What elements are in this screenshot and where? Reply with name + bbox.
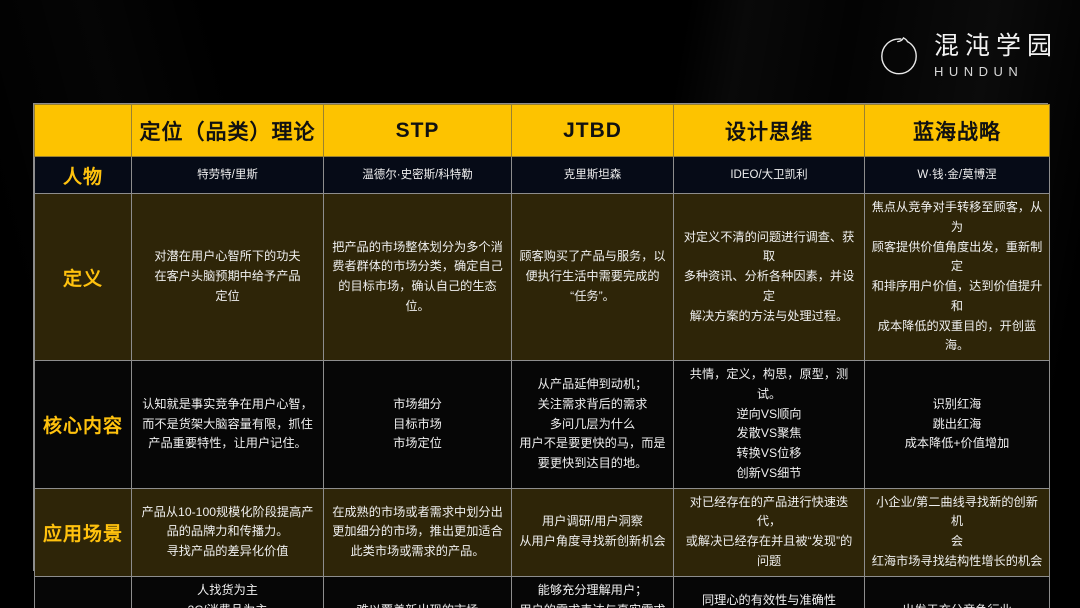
cell-line: 在成熟的市场或者需求中划分出 — [330, 503, 505, 523]
cell-text: 焦点从竞争对手转移至顾客，从为顾客提供价值角度出发，重新制定和排序用户价值，达到… — [871, 198, 1043, 356]
cell-line: 成本降低的双重目的，开创蓝海。 — [871, 317, 1043, 357]
table-cell: 难以覆盖新出现的市场细分的维度不好找难以超出预期 — [324, 576, 512, 608]
row-label: 应用场景 — [35, 488, 132, 576]
slide-canvas: 混沌学园 HUNDUN 定位（品类）理论 STP JTBD 设计思维 蓝海战略 … — [0, 0, 1080, 608]
table-cell: 对潜在用户心智所下的功夫在客户头脑预期中给予产品定位 — [132, 194, 324, 361]
cell-line: 特劳特/里斯 — [138, 166, 317, 185]
table-cell: 顾客购买了产品与服务，以便执行生活中需要完成的“任务”。 — [512, 194, 674, 361]
cell-text: 能够充分理解用户；用户的需求表达与真实需求的GAP；假设用户的行为都有其他的目的… — [518, 581, 667, 608]
cell-line: 问题 — [680, 552, 858, 572]
cell-text: 在成熟的市场或者需求中划分出更加细分的市场，推出更加适合此类市场或需求的产品。 — [330, 503, 505, 562]
table-cell: 识别红海跳出红海成本降低+价值增加 — [865, 361, 1050, 489]
cell-line: 出发于充分竞争行业 — [871, 601, 1043, 608]
table-cell: 认知就是事实竞争在用户心智，而不是货架大脑容量有限，抓住产品重要特性，让用户记住… — [132, 361, 324, 489]
cell-line: 用户调研/用户洞察 — [518, 512, 667, 532]
table-body: 人物特劳特/里斯温德尔·史密斯/科特勒克里斯坦森IDEO/大卫凯利W·钱·金/莫… — [35, 157, 1050, 608]
cell-line: 的目标市场，确认自己的生态位。 — [330, 277, 505, 317]
cell-text: 人找货为主2C/消费品为主品牌价值大于用户价值品牌传播及营销领域为主是一种沟通手… — [138, 581, 317, 608]
cell-line: 费者群体的市场分类，确定自己 — [330, 257, 505, 277]
cell-line: 同理心的有效性与准确性 — [680, 591, 858, 608]
column-header-design-thinking: 设计思维 — [674, 105, 865, 157]
cell-text: 温德尔·史密斯/科特勒 — [330, 166, 505, 185]
cell-line: 关注需求背后的需求 — [518, 395, 667, 415]
cell-line: 认知就是事实竞争在用户心智， — [138, 395, 317, 415]
table-cell: W·钱·金/莫博涅 — [865, 157, 1050, 194]
cell-line: 红海市场寻找结构性增长的机会 — [871, 552, 1043, 572]
cell-text: IDEO/大卫凯利 — [680, 166, 858, 185]
cell-text: 对潜在用户心智所下的功夫在客户头脑预期中给予产品定位 — [138, 247, 317, 306]
cell-text: 用户调研/用户洞察从用户角度寻找新创新机会 — [518, 512, 667, 552]
row-label: 核心内容 — [35, 361, 132, 489]
cell-line: 目标市场 — [330, 415, 505, 435]
table-cell: 特劳特/里斯 — [132, 157, 324, 194]
cell-text: 识别红海跳出红海成本降低+价值增加 — [871, 395, 1043, 454]
table-cell: 同理心的有效性与准确性原型可测试可获得充足的市场反馈内部语言统一/问题定义统一 — [674, 576, 865, 608]
cell-line: 产品重要特性，让用户记住。 — [138, 434, 317, 454]
row-label: 定义 — [35, 194, 132, 361]
cell-text: 特劳特/里斯 — [138, 166, 317, 185]
table-cell: 焦点从竞争对手转移至顾客，从为顾客提供价值角度出发，重新制定和排序用户价值，达到… — [865, 194, 1050, 361]
table-cell: 对定义不清的问题进行调查、获取多种资讯、分析各种因素，并设定解决方案的方法与处理… — [674, 194, 865, 361]
cell-line: 定位 — [138, 287, 317, 307]
table-row: 人物特劳特/里斯温德尔·史密斯/科特勒克里斯坦森IDEO/大卫凯利W·钱·金/莫… — [35, 157, 1050, 194]
cell-line: 寻找产品的差异化价值 — [138, 542, 317, 562]
cell-line: 更加细分的市场，推出更加适合 — [330, 522, 505, 542]
cell-line: 用户不是要更快的马，而是 — [518, 434, 667, 454]
table-row: 核心内容认知就是事实竞争在用户心智，而不是货架大脑容量有限，抓住产品重要特性，让… — [35, 361, 1050, 489]
cell-line: 难以覆盖新出现的市场 — [330, 601, 505, 608]
cell-line: 而不是货架大脑容量有限，抓住 — [138, 415, 317, 435]
cell-line: 人找货为主 — [138, 581, 317, 601]
brand-lockup: 混沌学园 HUNDUN — [876, 31, 1058, 79]
column-header-positioning: 定位（品类）理论 — [132, 105, 324, 157]
table-cell: 市场细分目标市场市场定位 — [324, 361, 512, 489]
cell-text: 从产品延伸到动机；关注需求背后的需求多问几层为什么用户不是要更快的马，而是要更快… — [518, 375, 667, 474]
column-header-stp: STP — [324, 105, 512, 157]
table-cell: 克里斯坦森 — [512, 157, 674, 194]
cell-text: 难以覆盖新出现的市场细分的维度不好找难以超出预期 — [330, 601, 505, 608]
cell-line: 解决方案的方法与处理过程。 — [680, 307, 858, 327]
cell-line: 把产品的市场整体划分为多个消 — [330, 238, 505, 258]
table-row: 假设边界人找货为主2C/消费品为主品牌价值大于用户价值品牌传播及营销领域为主是一… — [35, 576, 1050, 608]
hundun-circle-icon — [876, 31, 922, 79]
table-cell: 产品从10-100规模化阶段提高产品的品牌力和传播力。寻找产品的差异化价值 — [132, 488, 324, 576]
row-label: 假设边界 — [35, 576, 132, 608]
cell-line: 发散VS聚焦 — [680, 424, 858, 444]
cell-text: 把产品的市场整体划分为多个消费者群体的市场分类，确定自己的目标市场，确认自己的生… — [330, 238, 505, 317]
table-cell: 共情，定义，构思，原型，测试。逆向VS顺向发散VS聚焦转换VS位移创新VS细节 — [674, 361, 865, 489]
cell-line: 从产品延伸到动机； — [518, 375, 667, 395]
table-cell: IDEO/大卫凯利 — [674, 157, 865, 194]
cell-line: 产品从10-100规模化阶段提高产 — [138, 503, 317, 523]
cell-line: 品的品牌力和传播力。 — [138, 522, 317, 542]
cell-line: 顾客提供价值角度出发，重新制定 — [871, 238, 1043, 278]
cell-line: “任务”。 — [518, 287, 667, 307]
cell-line: 转换VS位移 — [680, 444, 858, 464]
cell-line: 跳出红海 — [871, 415, 1043, 435]
cell-text: 市场细分目标市场市场定位 — [330, 395, 505, 454]
table-cell: 温德尔·史密斯/科特勒 — [324, 157, 512, 194]
brand-name-en: HUNDUN — [934, 65, 1058, 78]
cell-line: 顾客购买了产品与服务，以 — [518, 247, 667, 267]
cell-line: 小企业/第二曲线寻找新的创新机 — [871, 493, 1043, 533]
table-cell: 对已经存在的产品进行快速迭代，或解决已经存在并且被“发现”的问题 — [674, 488, 865, 576]
column-header-blue-ocean: 蓝海战略 — [865, 105, 1050, 157]
cell-line: 要更快到达目的地。 — [518, 454, 667, 474]
cell-line: 此类市场或需求的产品。 — [330, 542, 505, 562]
cell-line: 创新VS细节 — [680, 464, 858, 484]
comparison-table: 定位（品类）理论 STP JTBD 设计思维 蓝海战略 人物特劳特/里斯温德尔·… — [34, 104, 1050, 608]
cell-line: 2C/消费品为主 — [138, 601, 317, 608]
cell-line: 在客户头脑预期中给予产品 — [138, 267, 317, 287]
table-header: 定位（品类）理论 STP JTBD 设计思维 蓝海战略 — [35, 105, 1050, 157]
cell-line: 对已经存在的产品进行快速迭代， — [680, 493, 858, 533]
cell-line: 温德尔·史密斯/科特勒 — [330, 166, 505, 185]
cell-line: 焦点从竞争对手转移至顾客，从为 — [871, 198, 1043, 238]
cell-text: 对已经存在的产品进行快速迭代，或解决已经存在并且被“发现”的问题 — [680, 493, 858, 572]
brand-text: 混沌学园 HUNDUN — [934, 33, 1058, 78]
table-row: 定义对潜在用户心智所下的功夫在客户头脑预期中给予产品定位把产品的市场整体划分为多… — [35, 194, 1050, 361]
cell-text: 认知就是事实竞争在用户心智，而不是货架大脑容量有限，抓住产品重要特性，让用户记住… — [138, 395, 317, 454]
cell-text: 顾客购买了产品与服务，以便执行生活中需要完成的“任务”。 — [518, 247, 667, 306]
brand-name-cn: 混沌学园 — [934, 33, 1058, 58]
cell-line: 便执行生活中需要完成的 — [518, 267, 667, 287]
table-cell: 小企业/第二曲线寻找新的创新机会红海市场寻找结构性增长的机会 — [865, 488, 1050, 576]
framework-comparison-table: 定位（品类）理论 STP JTBD 设计思维 蓝海战略 人物特劳特/里斯温德尔·… — [33, 103, 1048, 571]
cell-text: 克里斯坦森 — [518, 166, 667, 185]
table-corner-cell — [35, 105, 132, 157]
table-cell: 出发于充分竞争行业消费者需求差异的存在价值要素可以重新组合 — [865, 576, 1050, 608]
row-label: 人物 — [35, 157, 132, 194]
cell-text: 对定义不清的问题进行调查、获取多种资讯、分析各种因素，并设定解决方案的方法与处理… — [680, 228, 858, 327]
column-header-jtbd: JTBD — [512, 105, 674, 157]
table-cell: 能够充分理解用户；用户的需求表达与真实需求的GAP；假设用户的行为都有其他的目的… — [512, 576, 674, 608]
cell-line: 市场细分 — [330, 395, 505, 415]
table-cell: 从产品延伸到动机；关注需求背后的需求多问几层为什么用户不是要更快的马，而是要更快… — [512, 361, 674, 489]
cell-text: W·钱·金/莫博涅 — [871, 166, 1043, 185]
cell-line: 对潜在用户心智所下的功夫 — [138, 247, 317, 267]
cell-line: 用户的需求表达与真实需求 — [518, 601, 667, 608]
cell-line: 识别红海 — [871, 395, 1043, 415]
cell-line: 能够充分理解用户； — [518, 581, 667, 601]
table-cell: 在成熟的市场或者需求中划分出更加细分的市场，推出更加适合此类市场或需求的产品。 — [324, 488, 512, 576]
table-cell: 把产品的市场整体划分为多个消费者群体的市场分类，确定自己的目标市场，确认自己的生… — [324, 194, 512, 361]
table-cell: 用户调研/用户洞察从用户角度寻找新创新机会 — [512, 488, 674, 576]
table-row: 应用场景产品从10-100规模化阶段提高产品的品牌力和传播力。寻找产品的差异化价… — [35, 488, 1050, 576]
cell-line: 克里斯坦森 — [518, 166, 667, 185]
cell-line: 共情，定义，构思，原型，测试。 — [680, 365, 858, 405]
cell-line: 或解决已经存在并且被“发现”的 — [680, 532, 858, 552]
header-row: 定位（品类）理论 STP JTBD 设计思维 蓝海战略 — [35, 105, 1050, 157]
cell-line: 多种资讯、分析各种因素，并设定 — [680, 267, 858, 307]
cell-text: 同理心的有效性与准确性原型可测试可获得充足的市场反馈内部语言统一/问题定义统一 — [680, 591, 858, 608]
cell-text: 产品从10-100规模化阶段提高产品的品牌力和传播力。寻找产品的差异化价值 — [138, 503, 317, 562]
cell-line: W·钱·金/莫博涅 — [871, 166, 1043, 185]
cell-line: IDEO/大卫凯利 — [680, 166, 858, 185]
cell-line: 和排序用户价值，达到价值提升和 — [871, 277, 1043, 317]
cell-text: 出发于充分竞争行业消费者需求差异的存在价值要素可以重新组合 — [871, 601, 1043, 608]
cell-line: 从用户角度寻找新创新机会 — [518, 532, 667, 552]
cell-line: 多问几层为什么 — [518, 415, 667, 435]
table-cell: 人找货为主2C/消费品为主品牌价值大于用户价值品牌传播及营销领域为主是一种沟通手… — [132, 576, 324, 608]
cell-text: 共情，定义，构思，原型，测试。逆向VS顺向发散VS聚焦转换VS位移创新VS细节 — [680, 365, 858, 484]
cell-line: 会 — [871, 532, 1043, 552]
cell-line: 市场定位 — [330, 434, 505, 454]
cell-line: 对定义不清的问题进行调查、获取 — [680, 228, 858, 268]
cell-text: 小企业/第二曲线寻找新的创新机会红海市场寻找结构性增长的机会 — [871, 493, 1043, 572]
cell-line: 逆向VS顺向 — [680, 405, 858, 425]
cell-line: 成本降低+价值增加 — [871, 434, 1043, 454]
